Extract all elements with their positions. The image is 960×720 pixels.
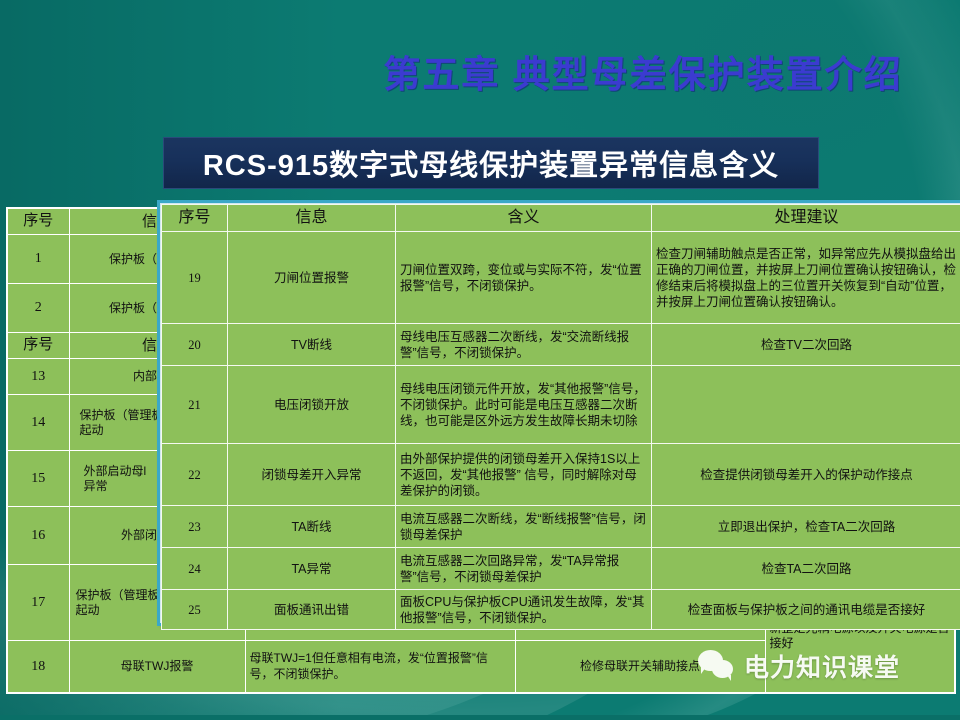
overlay-col-header-info: 信息 <box>228 205 396 232</box>
cell-suggestion: 检修母联开关辅助接点 <box>515 641 765 693</box>
overlay-table-row: 24 TA异常 电流互感器二次回路异常，发“TA异常报警”信号，不闭锁母差保护 … <box>162 548 960 590</box>
page-title: 第五章 典型母差保护装置介绍 <box>338 44 948 98</box>
overlay-cell-info: TA断线 <box>228 506 396 548</box>
cell-no: 2 <box>7 284 69 333</box>
cell-no: 18 <box>7 641 69 693</box>
overlay-table-row: 25 面板通讯出错 面板CPU与保护板CPU通讯发生故障，发“其他报警”信号，不… <box>162 590 960 630</box>
overlay-table-container[interactable]: 序号 信息 含义 处理建议 19 刀闸位置报警 刀闸位置双跨，变位或与实际不符，… <box>160 203 960 623</box>
cell-meaning: 母联TWJ=1但任意相有电流，发“位置报警”信号，不闭锁保护。 <box>245 641 515 693</box>
overlay-cell-meaning: 电流互感器二次回路异常，发“TA异常报警”信号，不闭锁母差保护 <box>396 548 652 590</box>
overlay-cell-suggestion <box>652 366 960 444</box>
overlay-cell-info: TA异常 <box>228 548 396 590</box>
overlay-cell-info: 刀闸位置报警 <box>228 232 396 324</box>
overlay-cell-meaning: 电流互感器二次断线，发“断线报警”信号，闭锁母差保护 <box>396 506 652 548</box>
overlay-header-row: 序号 信息 含义 处理建议 <box>162 205 960 232</box>
overlay-cell-suggestion: 检查刀闸辅助触点是否正常，如异常应先从模拟盘给出正确的刀闸位置，并按屏上刀闸位置… <box>652 232 960 324</box>
overlay-cell-info: TV断线 <box>228 324 396 366</box>
overlay-cell-no: 19 <box>162 232 228 324</box>
overlay-cell-no: 21 <box>162 366 228 444</box>
overlay-cell-meaning: 刀闸位置双跨，变位或与实际不符，发“位置报警”信号，不闭锁保护。 <box>396 232 652 324</box>
overlay-cell-suggestion: 检查提供闭锁母差开入的保护动作接点 <box>652 444 960 506</box>
overlay-cell-info: 面板通讯出错 <box>228 590 396 630</box>
col-header-no-2: 序号 <box>7 333 69 359</box>
overlay-col-header-meaning: 含义 <box>396 205 652 232</box>
bottom-strip <box>0 715 960 720</box>
overlay-table-row: 19 刀闸位置报警 刀闸位置双跨，变位或与实际不符，发“位置报警”信号，不闭锁保… <box>162 232 960 324</box>
cell-no: 17 <box>7 565 69 641</box>
cell-no: 13 <box>7 359 69 395</box>
overlay-cell-info: 电压闭锁开放 <box>228 366 396 444</box>
overlay-cell-no: 24 <box>162 548 228 590</box>
overlay-col-header-no: 序号 <box>162 205 228 232</box>
overlay-cell-suggestion: 检查TA二次回路 <box>652 548 960 590</box>
cell-info: 母联TWJ报警 <box>69 641 245 693</box>
subtitle-banner-text: RCS-915数字式母线保护装置异常信息含义 <box>203 142 779 184</box>
overlay-cell-info: 闭锁母差开入异常 <box>228 444 396 506</box>
cell-no: 1 <box>7 235 69 284</box>
overlay-cell-meaning: 面板CPU与保护板CPU通讯发生故障，发“其他报警”信号，不闭锁保护。 <box>396 590 652 630</box>
overlay-cell-no: 25 <box>162 590 228 630</box>
overlay-cell-suggestion: 立即退出保护，检查TA二次回路 <box>652 506 960 548</box>
overlay-table-row: 21 电压闭锁开放 母线电压闭锁元件开放，发“其他报警”信号，不闭锁保护。此时可… <box>162 366 960 444</box>
subtitle-banner: RCS-915数字式母线保护装置异常信息含义 <box>163 137 819 189</box>
overlay-cell-suggestion: 检查面板与保护板之间的通讯电缆是否接好 <box>652 590 960 630</box>
overlay-cell-meaning: 母线电压互感器二次断线，发“交流断线报警”信号，不闭锁保护。 <box>396 324 652 366</box>
overlay-cell-meaning: 由外部保护提供的闭锁母差开入保持1S以上不返回，发“其他报警” 信号，同时解除对… <box>396 444 652 506</box>
overlay-cell-no: 22 <box>162 444 228 506</box>
overlay-cell-meaning: 母线电压闭锁元件开放，发“其他报警”信号，不闭锁保护。此时可能是电压互感器二次断… <box>396 366 652 444</box>
overlay-table-row: 20 TV断线 母线电压互感器二次断线，发“交流断线报警”信号，不闭锁保护。 检… <box>162 324 960 366</box>
col-header-no: 序号 <box>7 208 69 235</box>
overlay-cell-no: 23 <box>162 506 228 548</box>
cell-no: 16 <box>7 507 69 565</box>
overlay-col-header-suggestion: 处理建议 <box>652 205 960 232</box>
overlay-cell-no: 20 <box>162 324 228 366</box>
slide-canvas: 序号 信息 含义 处理建议 1 保护板（管理板） 2 保护板（管理板） <box>0 0 960 720</box>
overlay-table-row: 22 闭锁母差开入异常 由外部保护提供的闭锁母差开入保持1S以上不返回，发“其他… <box>162 444 960 506</box>
cell-no: 15 <box>7 451 69 507</box>
overlay-cell-suggestion: 检查TV二次回路 <box>652 324 960 366</box>
overlay-table: 序号 信息 含义 处理建议 19 刀闸位置报警 刀闸位置双跨，变位或与实际不符，… <box>161 204 960 630</box>
cell-no: 14 <box>7 395 69 451</box>
overlay-table-row: 23 TA断线 电流互感器二次断线，发“断线报警”信号，闭锁母差保护 立即退出保… <box>162 506 960 548</box>
